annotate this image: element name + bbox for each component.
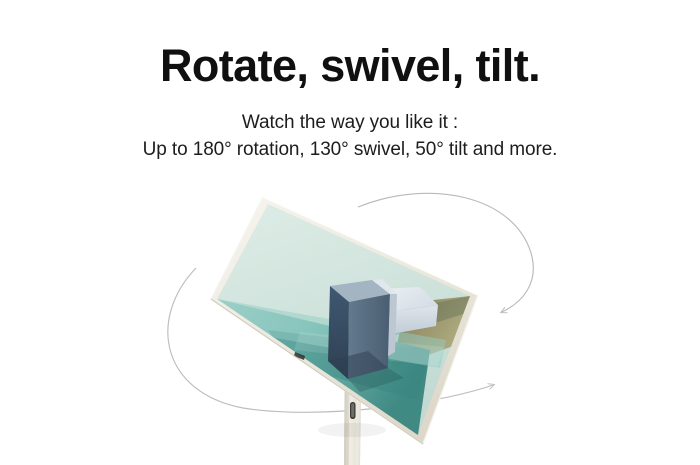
monitor-panel bbox=[211, 197, 478, 444]
screen-object-panel bbox=[372, 279, 397, 356]
monitor-stand bbox=[344, 335, 362, 465]
promo-banner: Rotate, swivel, tilt. Watch the way you … bbox=[0, 0, 700, 465]
screen-object-slab bbox=[355, 287, 438, 336]
subtitle-line-1: Watch the way you like it : bbox=[0, 109, 700, 137]
screen-object-box bbox=[328, 280, 390, 379]
page-title: Rotate, swivel, tilt. bbox=[0, 42, 700, 91]
swivel-arrow-counterclockwise bbox=[168, 268, 493, 412]
subtitle-block: Watch the way you like it : Up to 180° r… bbox=[0, 109, 700, 164]
bezel-indicator-icon bbox=[294, 352, 305, 360]
rotate-arrow-clockwise bbox=[358, 193, 533, 312]
subtitle-line-2: Up to 180° rotation, 130° swivel, 50° ti… bbox=[0, 136, 700, 164]
monitor-bezel bbox=[211, 197, 478, 444]
text-block: Rotate, swivel, tilt. Watch the way you … bbox=[0, 42, 700, 164]
cable-slot-icon bbox=[350, 402, 356, 419]
